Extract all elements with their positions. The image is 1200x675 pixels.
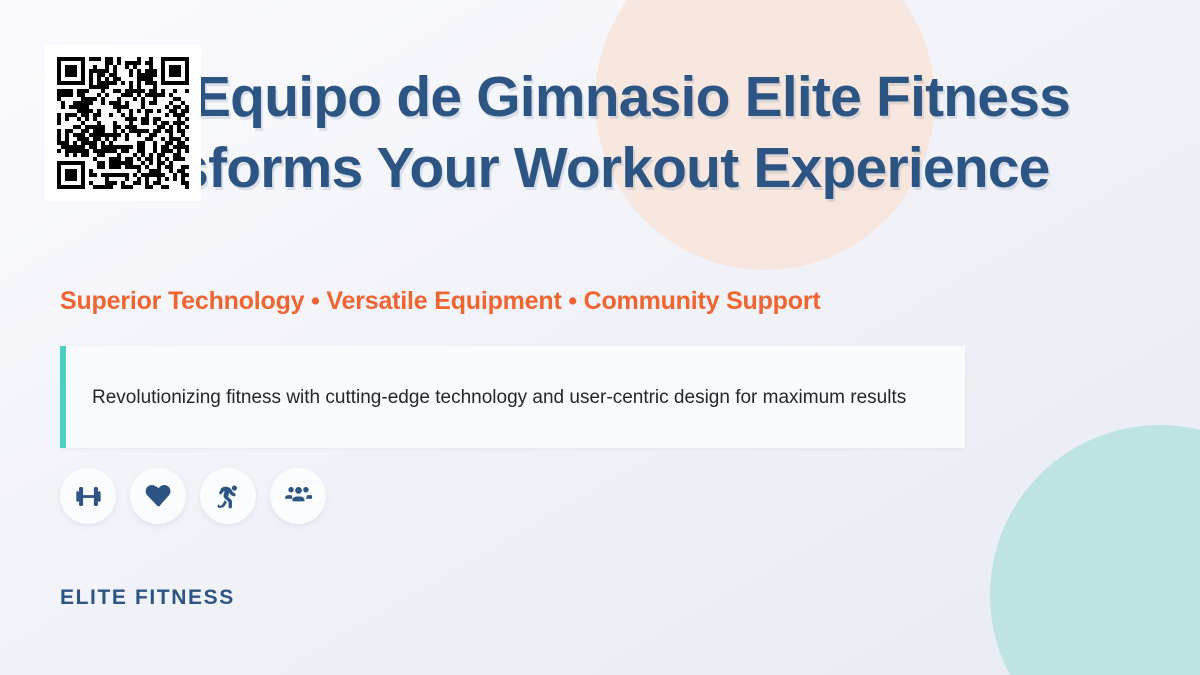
- qr-code-panel[interactable]: [45, 45, 201, 201]
- running-person-icon: [215, 483, 242, 510]
- people-group-icon: [285, 483, 312, 510]
- dumbbell-icon: [75, 483, 102, 510]
- feature-icon-row: [60, 468, 326, 524]
- heart-pulse-icon: [145, 483, 172, 510]
- promo-banner: How Equipo de Gimnasio Elite Fitness Tra…: [0, 0, 1200, 675]
- description-text: Revolutionizing fitness with cutting-edg…: [66, 383, 932, 412]
- feature-chip-health[interactable]: [130, 468, 186, 524]
- feature-chip-community[interactable]: [270, 468, 326, 524]
- brand-name: ELITE FITNESS: [60, 586, 235, 610]
- description-card: Revolutionizing fitness with cutting-edg…: [60, 346, 965, 448]
- subtitle-tagline: Superior Technology • Versatile Equipmen…: [60, 287, 820, 316]
- qr-code-icon: [57, 57, 189, 189]
- page-title: How Equipo de Gimnasio Elite Fitness Tra…: [60, 62, 1105, 204]
- feature-chip-equipment[interactable]: [60, 468, 116, 524]
- feature-chip-training[interactable]: [200, 468, 256, 524]
- banner-content: How Equipo de Gimnasio Elite Fitness Tra…: [60, 0, 1140, 675]
